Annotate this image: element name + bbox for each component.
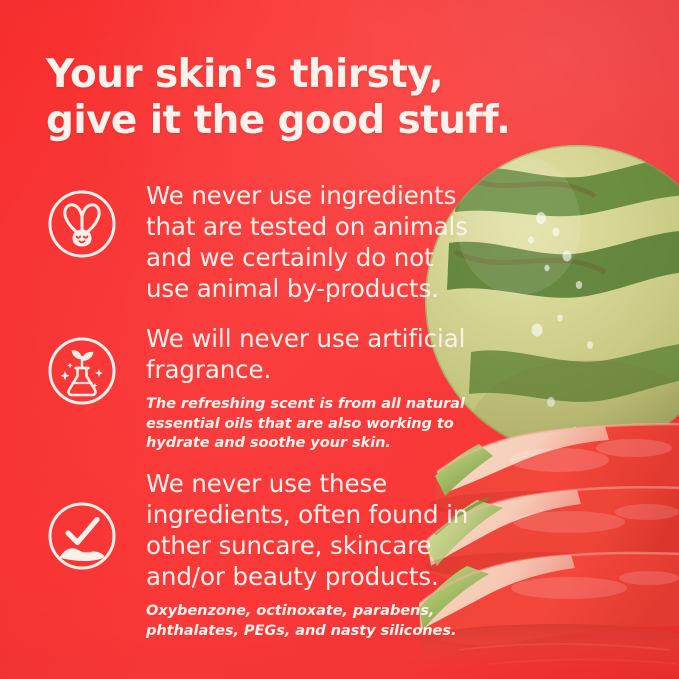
claim-text-group: We will never use artificial fragrance. … <box>146 323 476 453</box>
claim-title: We never use these ingredients, often fo… <box>146 468 476 592</box>
claim-item-no-bad-ingredients: We never use these ingredients, often fo… <box>46 468 476 640</box>
claim-item-cruelty-free: We never use ingredients that are tested… <box>46 180 476 304</box>
claim-subtext: The refreshing scent is from all natural… <box>146 394 476 453</box>
bunny-cruelty-free-icon <box>46 188 118 260</box>
infographic-canvas: Your skin's thirsty, give it the good st… <box>0 0 679 679</box>
claim-item-no-artificial-fragrance: We will never use artificial fragrance. … <box>46 323 476 453</box>
flask-leaf-natural-icon <box>46 335 118 407</box>
headline-line-2: give it the good stuff. <box>46 98 606 144</box>
claim-text-group: We never use ingredients that are tested… <box>146 180 476 304</box>
page-title: Your skin's thirsty, give it the good st… <box>46 52 606 144</box>
headline-line-1: Your skin's thirsty, <box>46 52 606 98</box>
check-hand-icon <box>46 500 118 572</box>
claim-title: We never use ingredients that are tested… <box>146 180 476 304</box>
claim-text-group: We never use these ingredients, often fo… <box>146 468 476 640</box>
claim-title: We will never use artificial fragrance. <box>146 323 476 385</box>
claim-subtext: Oxybenzone, octinoxate, parabens, phthal… <box>146 601 476 640</box>
